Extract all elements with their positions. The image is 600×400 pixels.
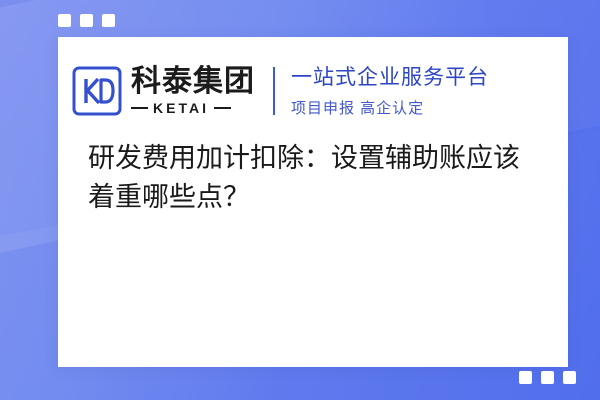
brand-wordmark: 科泰集团 KETAI <box>131 66 255 117</box>
square-dot-icon <box>563 371 576 384</box>
decorative-dots-top <box>58 14 115 27</box>
poster-canvas: 科泰集团 KETAI 一站式企业服务平台 项目申报 高企认定 研发费用加计扣除：… <box>0 0 600 400</box>
kd-logo-mark-icon <box>72 66 122 116</box>
article-title: 研发费用加计扣除：设置辅助账应该着重哪些点？ <box>88 139 538 217</box>
square-dot-icon <box>80 14 93 27</box>
company-name-en: KETAI <box>153 100 209 116</box>
decorative-dots-bottom <box>519 371 576 384</box>
company-name-en-row: KETAI <box>131 100 255 116</box>
square-dot-icon <box>58 14 71 27</box>
slogan-primary: 一站式企业服务平台 <box>291 64 489 91</box>
square-dot-icon <box>519 371 532 384</box>
wordmark-rule-right <box>214 107 231 109</box>
slogan-secondary: 项目申报 高企认定 <box>291 97 489 118</box>
square-dot-icon <box>541 371 554 384</box>
wordmark-rule-left <box>131 107 148 109</box>
brand-logo: 科泰集团 KETAI <box>72 66 255 117</box>
slogan-block: 一站式企业服务平台 项目申报 高企认定 <box>291 64 489 117</box>
content-card: 科泰集团 KETAI 一站式企业服务平台 项目申报 高企认定 研发费用加计扣除：… <box>58 37 568 367</box>
article-title-block: 研发费用加计扣除：设置辅助账应该着重哪些点？ <box>58 123 568 217</box>
company-name: 科泰集团 <box>131 66 255 98</box>
brand-header: 科泰集团 KETAI 一站式企业服务平台 项目申报 高企认定 <box>58 37 568 123</box>
square-dot-icon <box>102 14 115 27</box>
header-divider <box>273 67 275 115</box>
